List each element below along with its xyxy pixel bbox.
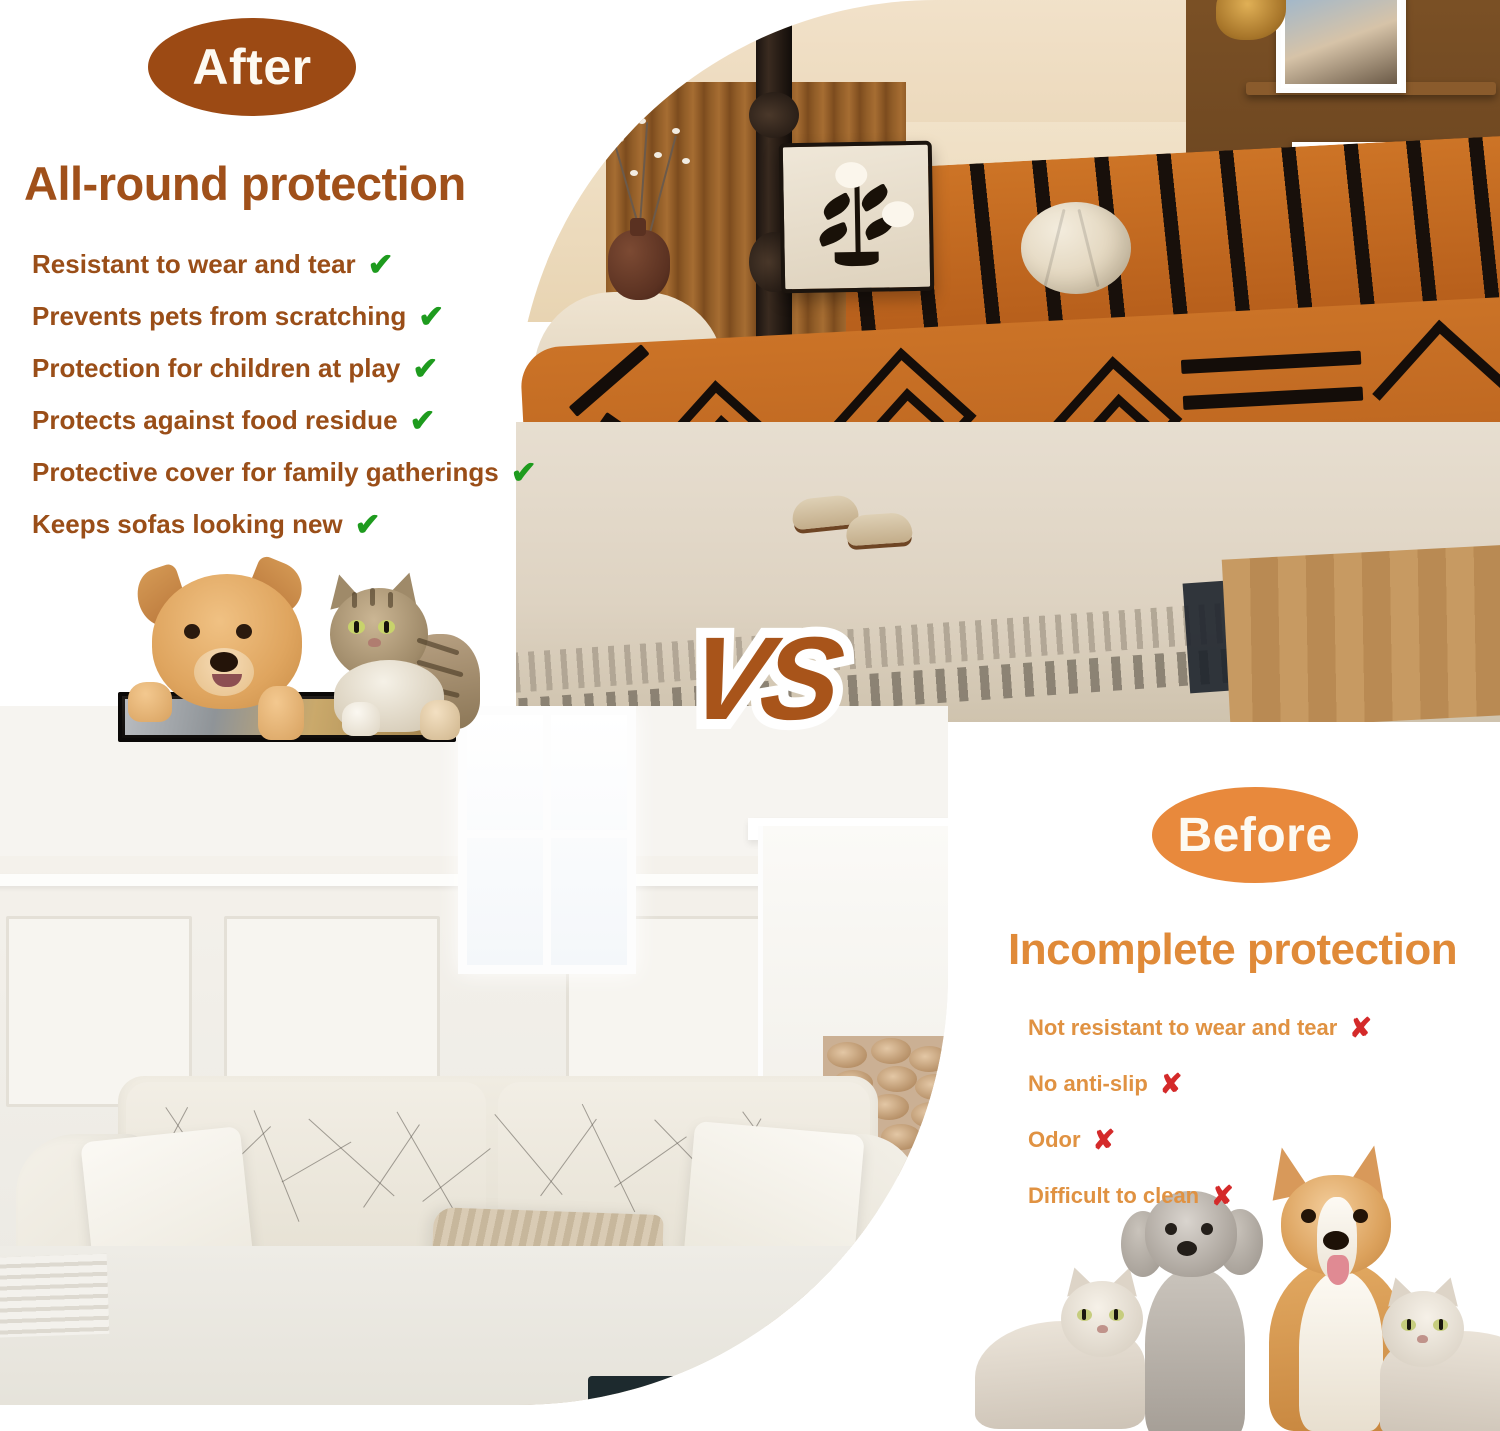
- check-icon: ✔: [412, 353, 438, 384]
- slipper-right: [845, 512, 913, 547]
- after-item-text: Protective cover for family gatherings: [32, 457, 499, 488]
- list-item: Prevents pets from scratching ✔: [32, 290, 537, 342]
- after-item-text: Protection for children at play: [32, 353, 400, 384]
- after-title: All-round protection: [24, 156, 466, 211]
- cross-icon: ✘: [1160, 1071, 1183, 1098]
- list-item: No anti-slip ✘: [1028, 1056, 1372, 1112]
- white-cat-right: [1375, 1285, 1500, 1431]
- knotted-ball-cushion: [1021, 202, 1131, 294]
- magazine-stack: [0, 1254, 109, 1338]
- dark-object: [588, 1376, 768, 1431]
- light-rug: [0, 1246, 948, 1431]
- after-feature-list: Resistant to wear and tear ✔ Prevents pe…: [32, 238, 537, 550]
- sofa-leg-right: [828, 1394, 852, 1426]
- before-drawback-list: Not resistant to wear and tear ✘ No anti…: [1028, 1000, 1372, 1224]
- before-item-text: Difficult to clean: [1028, 1183, 1199, 1209]
- cross-icon: ✘: [1349, 1015, 1372, 1042]
- list-item: Resistant to wear and tear ✔: [32, 238, 537, 290]
- dog-and-cat-photo: [112, 552, 492, 767]
- floral-cushion: [779, 141, 935, 294]
- before-item-text: Not resistant to wear and tear: [1028, 1015, 1337, 1041]
- picture-frame-upper: [1276, 0, 1406, 93]
- cross-icon: ✘: [1211, 1183, 1234, 1210]
- golden-dog: [132, 562, 317, 722]
- check-icon: ✔: [368, 249, 394, 280]
- after-item-text: Prevents pets from scratching: [32, 301, 406, 332]
- tabby-cat: [312, 574, 482, 729]
- list-item: Not resistant to wear and tear ✘: [1028, 1000, 1372, 1056]
- cross-icon: ✘: [1093, 1127, 1116, 1154]
- infographic-canvas: VS VS After All-round protection Resista…: [0, 0, 1500, 1431]
- before-badge: Before: [1152, 787, 1358, 883]
- check-icon: ✔: [511, 457, 537, 488]
- after-sofa-photo: [516, 0, 1500, 722]
- after-badge: After: [148, 18, 356, 116]
- dried-branch: [586, 112, 706, 242]
- after-item-text: Keeps sofas looking new: [32, 509, 343, 540]
- after-item-text: Protects against food residue: [32, 405, 398, 436]
- list-item: Protects against food residue ✔: [32, 394, 537, 446]
- list-item: Protective cover for family gatherings ✔: [32, 446, 537, 498]
- check-icon: ✔: [410, 405, 436, 436]
- before-title: Incomplete protection: [1008, 925, 1457, 975]
- wood-floor: [1222, 545, 1500, 722]
- check-icon: ✔: [355, 509, 381, 540]
- before-item-text: No anti-slip: [1028, 1071, 1148, 1097]
- before-item-text: Odor: [1028, 1127, 1081, 1153]
- list-item: Protection for children at play ✔: [32, 342, 537, 394]
- vs-badge: VS: [681, 620, 845, 738]
- list-item: Keeps sofas looking new ✔: [32, 498, 537, 550]
- ceramic-vase: [608, 230, 670, 300]
- list-item: Difficult to clean ✘: [1028, 1168, 1372, 1224]
- check-icon: ✔: [418, 301, 444, 332]
- after-item-text: Resistant to wear and tear: [32, 249, 356, 280]
- list-item: Odor ✘: [1028, 1112, 1372, 1168]
- before-sofa-photo: [0, 706, 948, 1431]
